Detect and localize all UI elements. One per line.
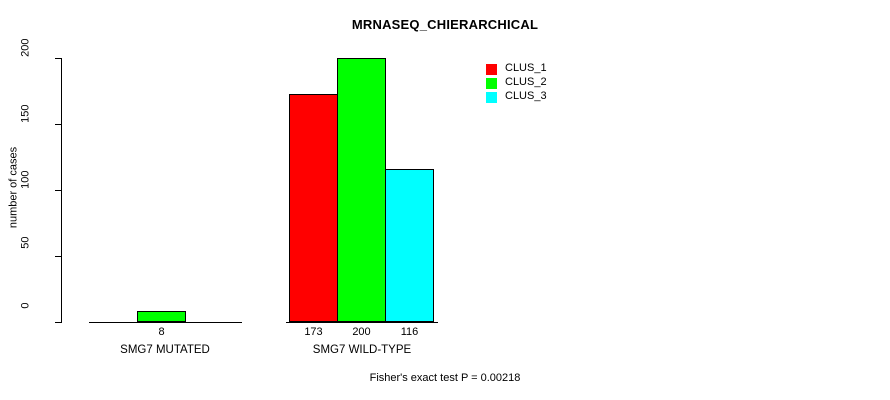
y-tick-label-150: 150 bbox=[21, 105, 32, 145]
legend-swatch-icon-clus-3 bbox=[486, 92, 497, 103]
y-tick-label-50: 50 bbox=[21, 237, 32, 277]
y-tick-mark-150 bbox=[55, 124, 62, 125]
legend-label-clus-3: CLUS_3 bbox=[505, 90, 547, 103]
statistical-test-annotation: Fisher's exact test P = 0.00218 bbox=[0, 372, 890, 384]
y-tick-mark-100 bbox=[55, 190, 62, 191]
chart-title: MRNASEQ_CHIERARCHICAL bbox=[0, 17, 890, 32]
y-tick-label-100: 100 bbox=[21, 171, 32, 211]
legend-swatch-icon-clus-2 bbox=[486, 78, 497, 89]
group-baseline-smg7-mutated bbox=[89, 322, 242, 323]
group-baseline-smg7-wild-type bbox=[286, 322, 438, 323]
bar-value-smg7-wild-type-clus1: 173 bbox=[289, 327, 338, 338]
legend-swatch-icon-clus-1 bbox=[486, 64, 497, 75]
bar-chart-figure: MRNASEQ_CHIERARCHICAL 0 50 100 150 200 n… bbox=[0, 0, 890, 400]
group-label-smg7-wild-type: SMG7 WILD-TYPE bbox=[262, 344, 462, 356]
bar-smg7-mutated-clus2 bbox=[137, 311, 186, 322]
bar-value-smg7-wild-type-clus2: 200 bbox=[337, 327, 386, 338]
bar-smg7-wild-type-clus2 bbox=[337, 58, 386, 322]
group-label-smg7-mutated: SMG7 MUTATED bbox=[65, 344, 265, 356]
bar-smg7-wild-type-clus1 bbox=[289, 94, 338, 322]
y-tick-label-0: 0 bbox=[21, 303, 32, 343]
legend-label-clus-1: CLUS_1 bbox=[505, 62, 547, 75]
bar-smg7-wild-type-clus3 bbox=[385, 169, 434, 322]
legend-label-clus-2: CLUS_2 bbox=[505, 76, 547, 89]
bar-value-smg7-mutated-clus2: 8 bbox=[137, 327, 186, 338]
y-tick-label-200: 200 bbox=[21, 39, 32, 79]
y-tick-mark-0 bbox=[55, 322, 62, 323]
y-axis-title: number of cases bbox=[9, 128, 20, 248]
bar-value-smg7-wild-type-clus3: 116 bbox=[385, 327, 434, 338]
y-tick-mark-50 bbox=[55, 256, 62, 257]
y-tick-mark-200 bbox=[55, 58, 62, 59]
